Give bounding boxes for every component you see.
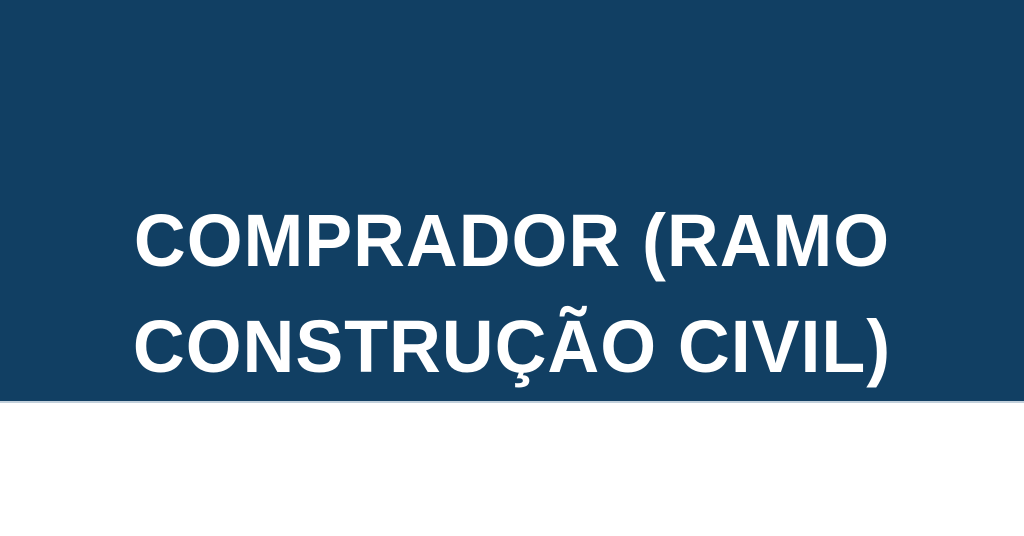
footer-bar: Enviar Currículo: [0, 403, 1024, 536]
job-posting-banner: COMPRADOR (RAMO CONSTRUÇÃO CIVIL) Enviar…: [0, 0, 1024, 536]
page-title: COMPRADOR (RAMO CONSTRUÇÃO CIVIL): [15, 188, 1008, 401]
hero-banner: COMPRADOR (RAMO CONSTRUÇÃO CIVIL): [0, 0, 1024, 401]
